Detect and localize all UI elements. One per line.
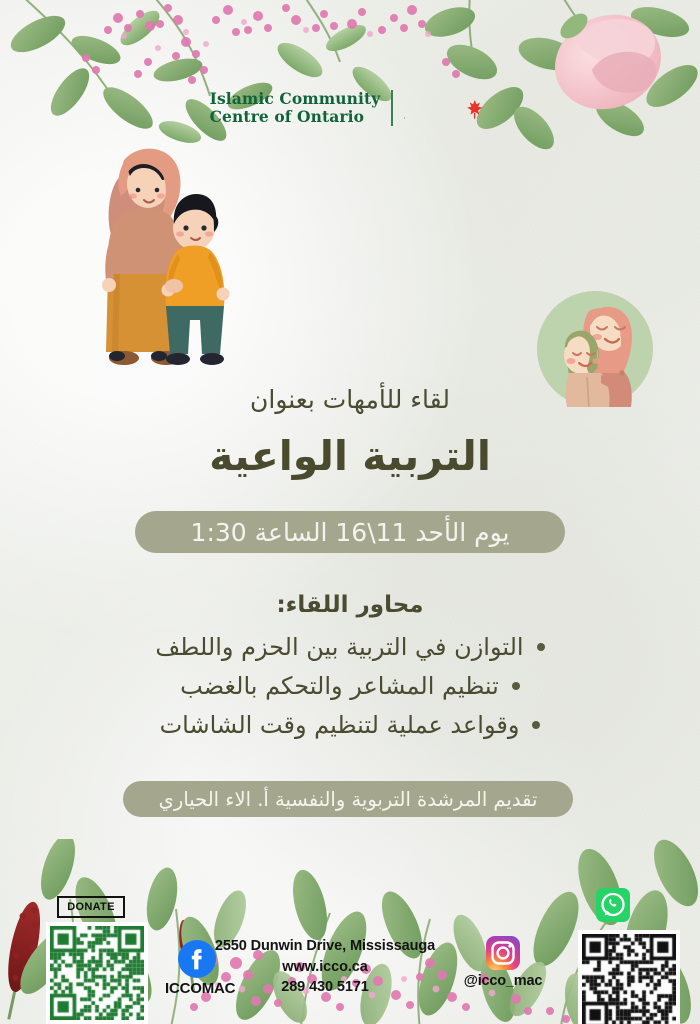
list-item: وقواعد عملية لتنظيم وقت الشاشات bbox=[160, 708, 541, 742]
logo-name: Islamic Community Centre of Ontario bbox=[210, 90, 381, 127]
list-item: التوازن في التربية بين الحزم واللطف bbox=[155, 630, 544, 664]
whatsapp-qr-code[interactable] bbox=[578, 930, 680, 1024]
donate-button[interactable]: DONATE bbox=[57, 896, 125, 918]
address-line: 2550 Dunwin Drive, Mississauga bbox=[200, 936, 450, 957]
topics-list: التوازن في التربية بين الحزم واللطف تنظي… bbox=[0, 630, 700, 742]
instagram-link[interactable]: @icco_mac bbox=[455, 936, 551, 989]
logo-divider bbox=[391, 90, 393, 126]
event-headline: لقاء للأمهات بعنوان bbox=[0, 385, 700, 414]
mother-and-son-illustration bbox=[62, 128, 242, 373]
list-item: تنظيم المشاعر والتحكم بالغضب bbox=[180, 669, 520, 703]
instagram-icon[interactable] bbox=[486, 936, 520, 970]
poster-canvas: MA Islamic Community Centre of Ontario bbox=[0, 0, 700, 1024]
event-title: التربية الواعية bbox=[0, 432, 700, 480]
phone-line[interactable]: 289 430 5171 bbox=[200, 977, 450, 998]
topics-heading: محاور اللقاء: bbox=[0, 592, 700, 618]
bullet-dot-icon bbox=[537, 643, 545, 651]
event-date-pill: يوم الأحد 11\16 الساعة 1:30 bbox=[135, 511, 565, 553]
topic-text: وقواعد عملية لتنظيم وقت الشاشات bbox=[160, 708, 520, 742]
bullet-dot-icon bbox=[532, 721, 540, 729]
instagram-handle: @icco_mac bbox=[455, 973, 551, 989]
logo-name-line1: Islamic Community bbox=[210, 90, 381, 108]
brand-logo: MA Islamic Community Centre of Ontario bbox=[0, 88, 700, 128]
whatsapp-icon[interactable] bbox=[596, 888, 630, 922]
contact-info: 2550 Dunwin Drive, Mississauga www.icco.… bbox=[200, 936, 450, 998]
logo-name-line2: Centre of Ontario bbox=[210, 108, 381, 126]
topic-text: التوازن في التربية بين الحزم واللطف bbox=[155, 630, 523, 664]
mac-wordmark: MA bbox=[404, 88, 490, 128]
donate-qr-code[interactable] bbox=[46, 922, 148, 1024]
bullet-dot-icon bbox=[512, 682, 520, 690]
website-line[interactable]: www.icco.ca bbox=[200, 957, 450, 978]
presenter-pill: تقديم المرشدة التربوية والنفسية أ. الاء … bbox=[123, 781, 573, 817]
topic-text: تنظيم المشاعر والتحكم بالغضب bbox=[180, 669, 499, 703]
